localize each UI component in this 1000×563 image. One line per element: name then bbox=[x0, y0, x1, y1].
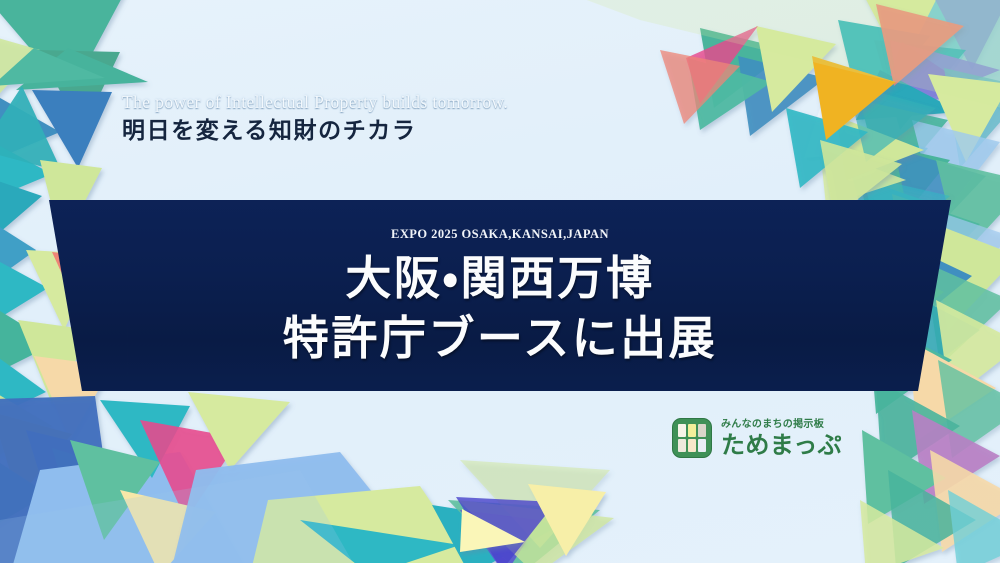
tagline-english: The power of Intellectual Property build… bbox=[122, 92, 508, 114]
logo-tile bbox=[678, 424, 686, 437]
tamemap-logo[interactable]: みんなのまちの掲示板 ためまっぷ bbox=[672, 418, 842, 458]
logo-tile bbox=[698, 424, 706, 437]
logo-tile bbox=[678, 439, 686, 452]
tagline-japanese: 明日を変える知財のチカラ bbox=[122, 117, 508, 147]
banner-headline-line2: 特許庁ブースに出展 bbox=[283, 309, 717, 368]
banner-content: EXPO 2025 OSAKA,KANSAI,JAPAN 大阪・関西万博 特許庁… bbox=[0, 193, 1000, 398]
bulletin-board-icon bbox=[672, 418, 712, 458]
logo-subtitle: みんなのまちの掲示板 bbox=[721, 420, 842, 430]
tagline-block: The power of Intellectual Property build… bbox=[122, 92, 508, 147]
logo-wordmark: ためまっぷ bbox=[721, 433, 842, 457]
logo-text-group: みんなのまちの掲示板 ためまっぷ bbox=[721, 420, 842, 457]
banner-eyebrow: EXPO 2025 OSAKA,KANSAI,JAPAN bbox=[391, 227, 609, 242]
main-banner: EXPO 2025 OSAKA,KANSAI,JAPAN 大阪・関西万博 特許庁… bbox=[0, 193, 1000, 398]
logo-tile bbox=[688, 424, 696, 437]
logo-tile bbox=[698, 439, 706, 452]
poster-canvas: The power of Intellectual Property build… bbox=[0, 0, 1000, 563]
logo-tile bbox=[688, 439, 696, 452]
banner-headline-line1: 大阪・関西万博 bbox=[345, 249, 654, 308]
